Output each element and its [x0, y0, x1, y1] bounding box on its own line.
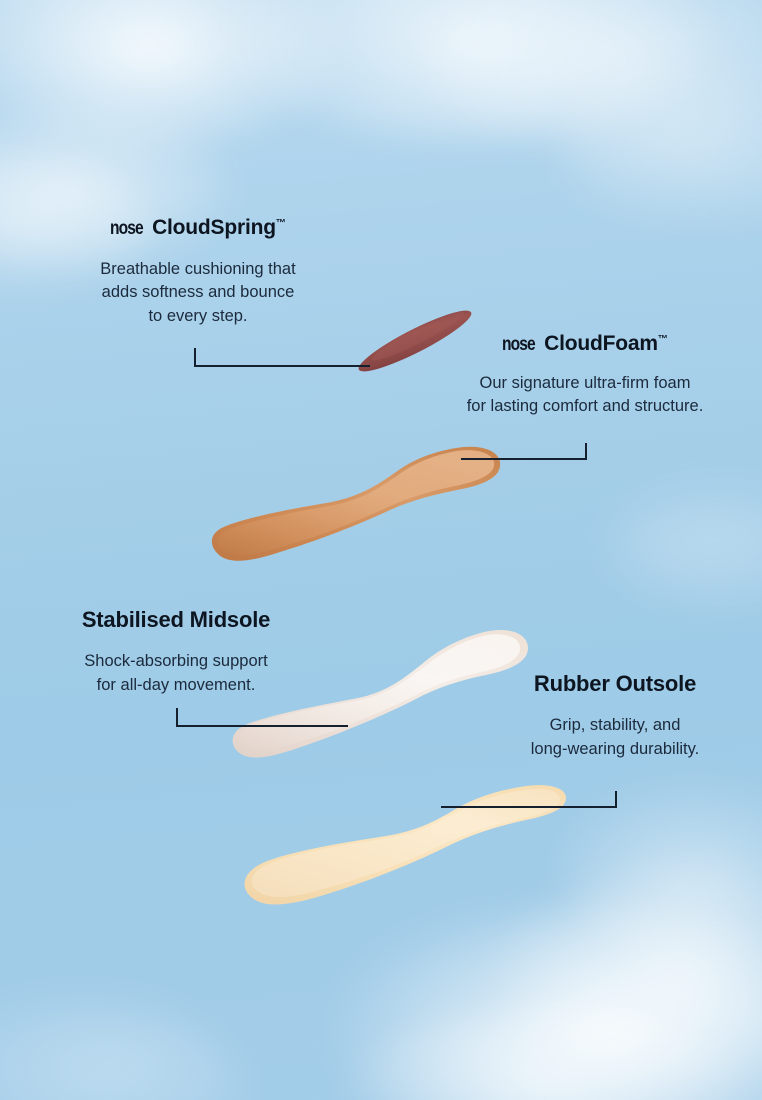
brand-logotype: nose [502, 335, 535, 356]
callout-heading-outsole: Rubber Outsole [470, 672, 760, 696]
callout-cloudspring: noseCloudSpring™ Breathable cushioning t… [38, 216, 358, 328]
infographic-canvas: noseCloudSpring™ Breathable cushioning t… [0, 0, 762, 1100]
heading-text: Rubber Outsole [534, 671, 696, 696]
body-line: Grip, stability, and [470, 714, 760, 737]
callout-midsole: Stabilised Midsole Shock-absorbing suppo… [28, 608, 324, 697]
callout-heading-midsole: Stabilised Midsole [28, 608, 324, 632]
body-line: to every step. [38, 305, 358, 328]
heading-text: CloudFoam [544, 332, 658, 355]
heading-text: CloudSpring [152, 216, 276, 239]
callout-body-outsole: Grip, stability, and long-wearing durabi… [470, 714, 760, 761]
leader-line-midsole [172, 705, 352, 733]
callout-heading-cloudspring: noseCloudSpring™ [38, 216, 358, 240]
leader-line-cloudfoam [458, 442, 593, 470]
trademark-symbol: ™ [276, 218, 286, 229]
callout-outsole: Rubber Outsole Grip, stability, and long… [470, 672, 760, 761]
body-line: for all-day movement. [28, 674, 324, 697]
leader-line-cloudspring [190, 345, 375, 373]
callout-body-cloudfoam: Our signature ultra-firm foam for lastin… [430, 372, 740, 419]
body-line: for lasting comfort and structure. [430, 395, 740, 418]
callout-body-cloudspring: Breathable cushioning that adds softness… [38, 258, 358, 328]
leader-line-outsole [438, 790, 623, 818]
body-line: Our signature ultra-firm foam [430, 372, 740, 395]
body-line: Shock-absorbing support [28, 650, 324, 673]
trademark-symbol: ™ [658, 334, 668, 345]
callout-cloudfoam: noseCloudFoam™ Our signature ultra-firm … [430, 332, 740, 419]
body-line: long-wearing durability. [470, 738, 760, 761]
body-line: Breathable cushioning that [38, 258, 358, 281]
heading-text: Stabilised Midsole [82, 607, 270, 632]
brand-logotype: nose [110, 219, 143, 240]
callout-body-midsole: Shock-absorbing support for all-day move… [28, 650, 324, 697]
callout-heading-cloudfoam: noseCloudFoam™ [430, 332, 740, 356]
body-line: adds softness and bounce [38, 281, 358, 304]
